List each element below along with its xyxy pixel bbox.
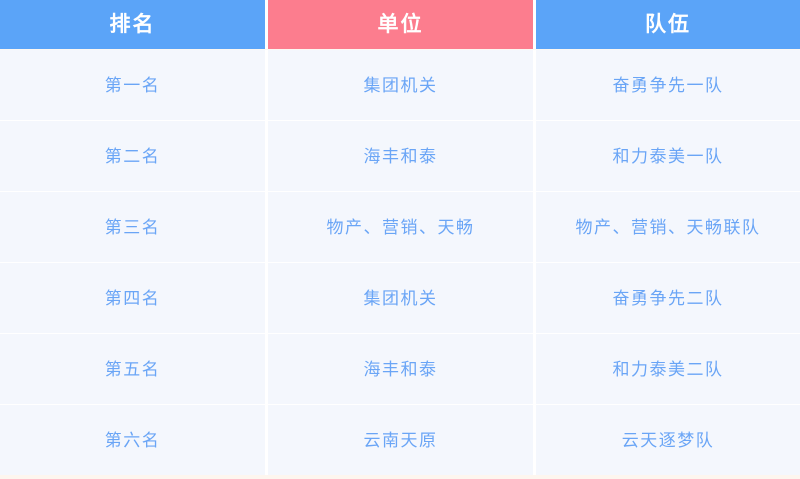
cell-rank: 第二名 (0, 121, 265, 191)
cell-rank: 第三名 (0, 192, 265, 262)
cell-unit: 集团机关 (268, 263, 533, 333)
cell-rank-value: 第六名 (105, 432, 161, 449)
cell-team-value: 和力泰美二队 (613, 361, 724, 378)
cell-team-value: 物产、营销、天畅联队 (576, 219, 761, 236)
cell-team-value: 奋勇争先一队 (613, 77, 724, 94)
column-header-unit-label: 单位 (378, 14, 424, 35)
cell-unit: 集团机关 (268, 50, 533, 120)
column-header-unit: 单位 (268, 0, 533, 49)
cell-team: 云天逐梦队 (536, 405, 800, 475)
table-row: 第二名 海丰和泰 和力泰美一队 (0, 121, 800, 191)
cell-rank: 第六名 (0, 405, 265, 475)
cell-unit-value: 集团机关 (364, 77, 438, 94)
cell-rank-value: 第二名 (105, 148, 161, 165)
cell-team-value: 奋勇争先二队 (613, 290, 724, 307)
table-body: 第一名 集团机关 奋勇争先一队 第二名 海丰和泰 和力泰美一队 第三名 (0, 50, 800, 475)
cell-rank-value: 第三名 (105, 219, 161, 236)
cell-unit: 物产、营销、天畅 (268, 192, 533, 262)
ranking-table: 排名 单位 队伍 第一名 集团机关 奋勇争先一队 第二名 海丰和泰 (0, 0, 800, 479)
cell-team: 奋勇争先二队 (536, 263, 800, 333)
cell-unit-value: 物产、营销、天畅 (327, 219, 475, 236)
cell-team-value: 和力泰美一队 (613, 148, 724, 165)
cell-team-value: 云天逐梦队 (622, 432, 715, 449)
cell-rank-value: 第一名 (105, 77, 161, 94)
cell-unit-value: 海丰和泰 (364, 361, 438, 378)
table-row: 第三名 物产、营销、天畅 物产、营销、天畅联队 (0, 192, 800, 262)
cell-rank: 第五名 (0, 334, 265, 404)
table-row: 第六名 云南天原 云天逐梦队 (0, 405, 800, 475)
cell-unit-value: 集团机关 (364, 290, 438, 307)
cell-rank-value: 第四名 (105, 290, 161, 307)
cell-team: 物产、营销、天畅联队 (536, 192, 800, 262)
table-header-row: 排名 单位 队伍 (0, 0, 800, 49)
cell-unit: 海丰和泰 (268, 121, 533, 191)
column-header-team-label: 队伍 (645, 14, 691, 35)
cell-team: 和力泰美一队 (536, 121, 800, 191)
cell-team: 奋勇争先一队 (536, 50, 800, 120)
column-header-rank: 排名 (0, 0, 265, 49)
cell-rank: 第四名 (0, 263, 265, 333)
column-header-team: 队伍 (536, 0, 800, 49)
table-row: 第四名 集团机关 奋勇争先二队 (0, 263, 800, 333)
cell-rank-value: 第五名 (105, 361, 161, 378)
table-row: 第一名 集团机关 奋勇争先一队 (0, 50, 800, 120)
cell-unit: 云南天原 (268, 405, 533, 475)
table-row: 第五名 海丰和泰 和力泰美二队 (0, 334, 800, 404)
cell-unit-value: 云南天原 (364, 432, 438, 449)
cell-rank: 第一名 (0, 50, 265, 120)
cell-unit-value: 海丰和泰 (364, 148, 438, 165)
column-header-rank-label: 排名 (110, 14, 156, 35)
cell-team: 和力泰美二队 (536, 334, 800, 404)
footer-strip (0, 475, 800, 479)
cell-unit: 海丰和泰 (268, 334, 533, 404)
